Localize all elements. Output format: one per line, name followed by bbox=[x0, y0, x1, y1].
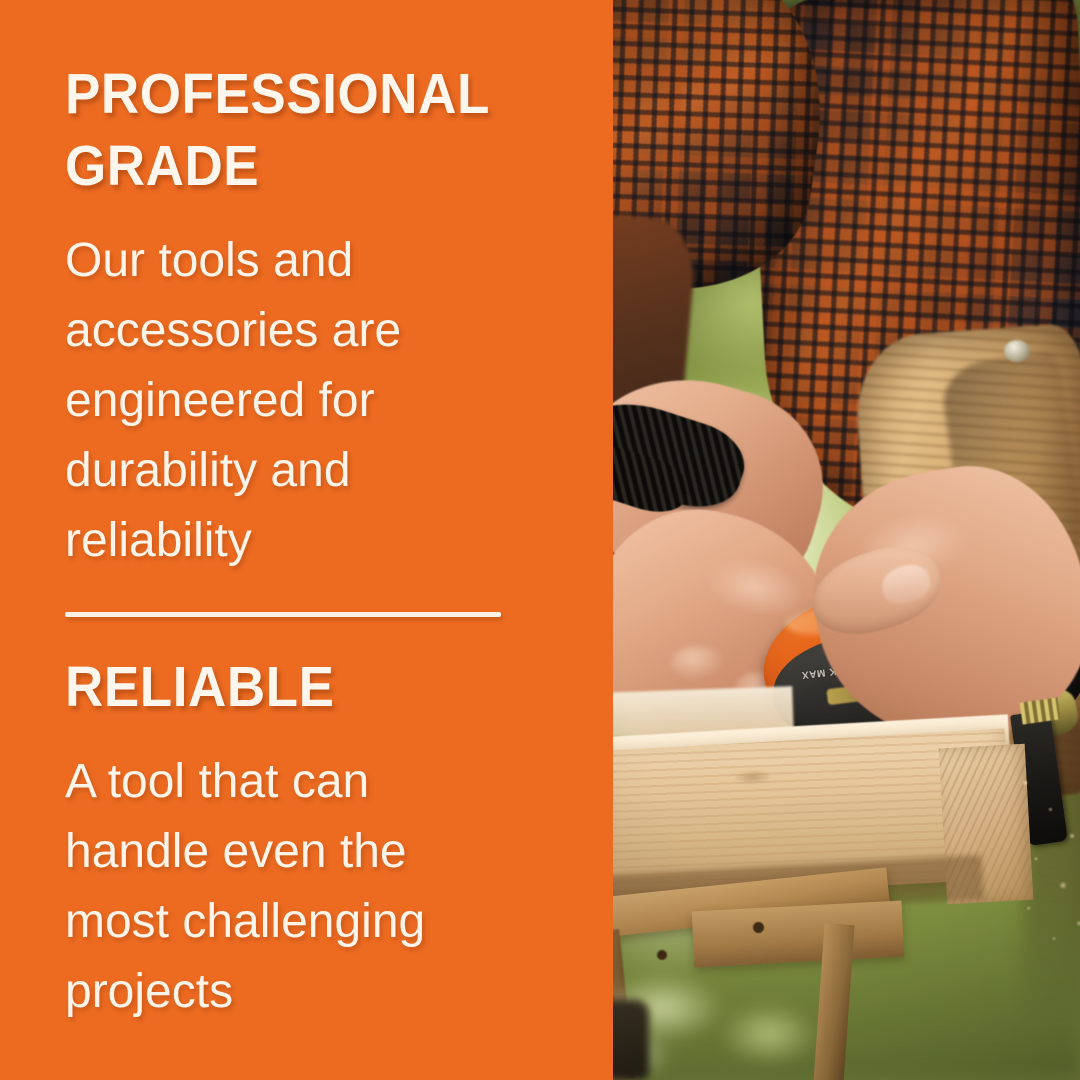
product-photo: STARLOCK MAX bbox=[613, 0, 1080, 1080]
feature-heading-reliable: RELIABLE bbox=[65, 651, 502, 723]
feature-heading-professional-grade: PROFESSIONAL GRADE bbox=[65, 58, 502, 202]
copy-panel: PROFESSIONAL GRADE Our tools and accesso… bbox=[0, 0, 613, 1080]
feature-body-professional-grade: Our tools and accessories are engineered… bbox=[65, 226, 465, 576]
section-divider bbox=[65, 612, 501, 617]
promo-banner: PROFESSIONAL GRADE Our tools and accesso… bbox=[0, 0, 1080, 1080]
photo-vignette bbox=[613, 0, 1080, 1080]
feature-body-reliable: A tool that can handle even the most cha… bbox=[65, 747, 485, 1027]
feature-block-reliable: RELIABLE A tool that can handle even the… bbox=[65, 651, 613, 1027]
feature-block-professional-grade: PROFESSIONAL GRADE Our tools and accesso… bbox=[65, 58, 613, 576]
